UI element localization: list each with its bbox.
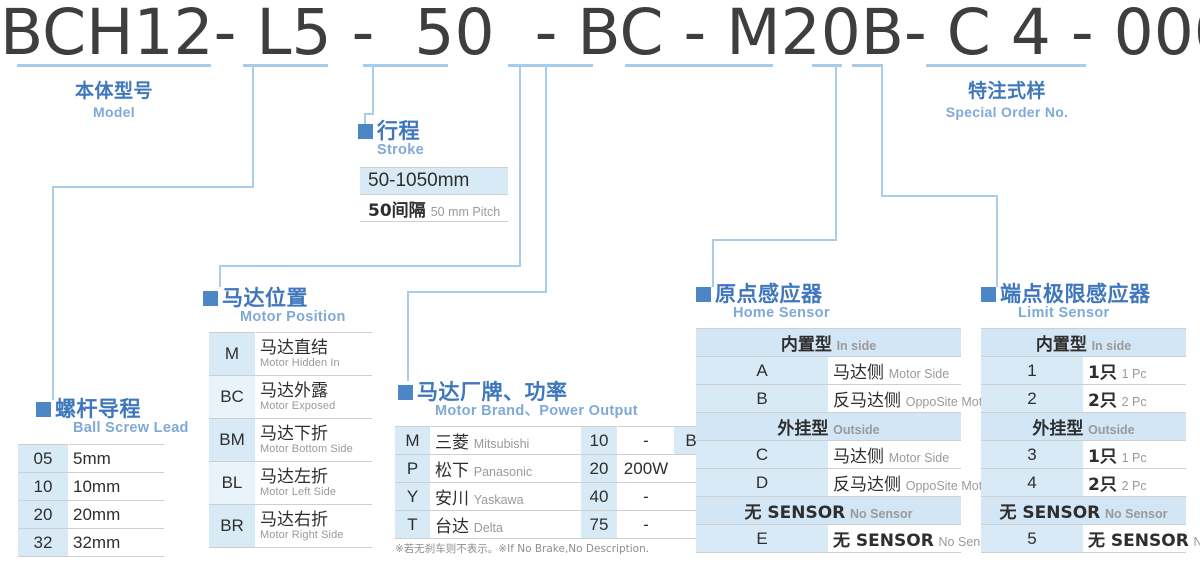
table-row[interactable]: 1 1只 1 Pc	[981, 357, 1186, 385]
mp-desc-en: Motor Left Side	[260, 487, 368, 498]
section-ls-title-en: Limit Sensor	[1018, 306, 1151, 321]
mp-desc-cn: 马达外露	[260, 383, 368, 400]
stroke-pitch-cell: 50间隔 50 mm Pitch	[360, 195, 508, 222]
ls-group-header: 外挂型 Outside	[981, 413, 1186, 441]
ls-desc: 2只 2 Pc	[1084, 385, 1187, 413]
ls-code: 5	[981, 525, 1084, 553]
table-row[interactable]: 20 20mm	[18, 501, 164, 529]
section-stroke-header: 行程 Stroke	[358, 120, 508, 158]
mp-desc: 马达直结 Motor Hidden In	[256, 333, 373, 376]
label-special-order-cn: 特注式样	[922, 76, 1092, 103]
hs-code: A	[696, 357, 829, 385]
label-model: 本体型号 Model	[24, 76, 204, 120]
ls-desc: 1只 1 Pc	[1084, 357, 1187, 385]
section-ball-screw-lead: 螺杆导程 Ball Screw Lead 05 5mm 10 10mm 20 2…	[36, 398, 189, 557]
section-hs-title-cn: 原点感应器	[715, 283, 830, 305]
motor-position-table: M 马达直结 Motor Hidden In BC 马达外露 Motor Exp…	[209, 332, 372, 548]
section-lead-title-cn: 螺杆导程	[55, 398, 189, 420]
table-row[interactable]: BR 马达右折 Motor Right Side	[209, 505, 372, 548]
section-mb-title-cn: 马达厂牌、功率	[417, 381, 638, 403]
underline-special-order	[926, 64, 1086, 67]
ls-group-header: 内置型 In side	[981, 329, 1186, 357]
hs-desc: 反马达侧 OppoSite Motor Side	[829, 385, 962, 413]
stroke-pitch-en: 50 mm Pitch	[431, 205, 500, 219]
ls-group-header-en: In side	[1092, 339, 1132, 353]
mb-code: P	[395, 455, 431, 483]
leader-lead-v2	[52, 186, 54, 400]
section-limit-sensor: 端点极限感应器 Limit Sensor 内置型 In side 1 1只 1 …	[981, 283, 1186, 553]
table-row[interactable]: 50间隔 50 mm Pitch	[360, 195, 508, 222]
leader-ls-v1	[881, 64, 883, 197]
hs-group-header-en: Outside	[833, 423, 880, 437]
ls-desc: 2只 2 Pc	[1084, 469, 1187, 497]
hs-desc: 马达侧 Motor Side	[829, 441, 962, 469]
ls-desc: 1只 1 Pc	[1084, 441, 1187, 469]
table-row[interactable]: BL 马达左折 Motor Left Side	[209, 462, 372, 505]
ls-group-header-cn: 无 SENSOR	[999, 503, 1100, 523]
hs-group-header-en: In side	[837, 339, 877, 353]
label-model-cn: 本体型号	[24, 76, 204, 103]
underline-model	[17, 64, 211, 67]
table-row[interactable]: 3 1只 1 Pc	[981, 441, 1186, 469]
ls-desc-en: 2 Pc	[1122, 395, 1147, 409]
section-lead-header: 螺杆导程 Ball Screw Lead	[36, 398, 189, 436]
leader-stroke-v1	[372, 64, 374, 114]
stroke-pitch-cn: 50间隔	[368, 201, 426, 221]
hs-desc-cn: 无 SENSOR	[833, 531, 934, 551]
ls-desc-en: 1 Pc	[1122, 367, 1147, 381]
section-stroke: 行程 Stroke 50-1050mm 50间隔 50 mm Pitch	[358, 120, 508, 222]
mp-desc: 马达右折 Motor Right Side	[256, 505, 373, 548]
mp-desc: 马达下折 Motor Bottom Side	[256, 419, 373, 462]
leader-mp-v2	[219, 265, 221, 287]
mp-code: BL	[209, 462, 256, 505]
mb-power: 200W	[618, 455, 675, 483]
lead-desc: 32mm	[69, 529, 165, 557]
label-special-order: 特注式样 Special Order No.	[922, 76, 1092, 120]
mb-code: T	[395, 511, 431, 539]
mb-power: -	[618, 511, 675, 539]
ls-group-header-cn: 内置型	[1036, 335, 1087, 355]
ball-screw-lead-table: 05 5mm 10 10mm 20 20mm 32 32mm	[18, 444, 164, 557]
section-mb-title-en: Motor Brand、Power Output	[435, 404, 638, 419]
lead-code: 05	[18, 445, 69, 473]
hs-desc: 无 SENSOR No Sensor	[829, 525, 962, 553]
section-stroke-title-en: Stroke	[377, 143, 424, 158]
product-code-diagram: BCH12- L5 - 50 - BC - M20B- C 4 - 0001 本…	[0, 0, 1200, 575]
mb-brand-en: Mitsubishi	[474, 437, 530, 451]
table-row[interactable]: Y 安川 Yaskawa 40 -	[395, 483, 708, 511]
table-row-group-header: 外挂型 Outside	[696, 413, 961, 441]
square-marker-icon	[203, 291, 218, 306]
stroke-range-cell: 50-1050mm	[360, 168, 508, 195]
hs-desc: 反马达侧 OppoSite Motor Side	[829, 469, 962, 497]
mb-power-code: 20	[581, 455, 618, 483]
hs-desc-cn: 反马达侧	[833, 475, 901, 495]
lead-desc: 5mm	[69, 445, 165, 473]
ls-desc-cn: 1只	[1088, 447, 1117, 467]
mb-brand-cn: 松下	[435, 461, 469, 481]
lead-code: 10	[18, 473, 69, 501]
hs-group-header-en: No Sensor	[850, 507, 913, 521]
section-hs-header: 原点感应器 Home Sensor	[696, 283, 961, 321]
section-stroke-title-cn: 行程	[377, 120, 424, 142]
leader-mp-v1	[519, 64, 521, 267]
table-row[interactable]: P 松下 Panasonic 20 200W	[395, 455, 708, 483]
mb-brand-en: Yaskawa	[474, 493, 524, 507]
table-row[interactable]: 4 2只 2 Pc	[981, 469, 1186, 497]
lead-desc: 10mm	[69, 473, 165, 501]
mb-power-code: 75	[581, 511, 618, 539]
section-motor-brand: 马达厂牌、功率 Motor Brand、Power Output M 三菱 Mi…	[398, 381, 708, 556]
section-ls-header: 端点极限感应器 Limit Sensor	[981, 283, 1186, 321]
limit-sensor-table: 内置型 In side 1 1只 1 Pc 2 2只 2 Pc	[981, 328, 1186, 553]
hs-group-header-cn: 无 SENSOR	[744, 503, 845, 523]
mb-brand: 三菱 Mitsubishi	[431, 427, 582, 455]
mb-code: M	[395, 427, 431, 455]
mp-desc: 马达左折 Motor Left Side	[256, 462, 373, 505]
home-sensor-table: 内置型 In side A 马达侧 Motor Side B 反马达侧 Oppo…	[696, 328, 961, 553]
ls-desc: 无 SENSOR No Sensor	[1084, 525, 1187, 553]
hs-group-header-cn: 外挂型	[777, 419, 828, 439]
mp-desc: 马达外露 Motor Exposed	[256, 376, 373, 419]
underline-lead	[243, 64, 328, 67]
section-ls-title-cn: 端点极限感应器	[1000, 283, 1151, 305]
leader-mb-h1	[407, 291, 547, 293]
leader-lead-v1	[252, 64, 254, 188]
motor-brand-table: M 三菱 Mitsubishi 10 - B P 松下 Panasonic 20…	[395, 426, 708, 539]
underline-home-sensor	[812, 64, 842, 67]
underline-motor-brand	[625, 64, 773, 67]
label-model-en: Model	[24, 104, 204, 120]
hs-group-header: 无 SENSOR No Sensor	[696, 497, 961, 525]
hs-code: C	[696, 441, 829, 469]
mp-desc-en: Motor Exposed	[260, 401, 368, 412]
section-motor-position: 马达位置 Motor Position M 马达直结 Motor Hidden …	[203, 287, 372, 548]
table-row-group-header: 内置型 In side	[981, 329, 1186, 357]
mb-brand: 松下 Panasonic	[431, 455, 582, 483]
leader-mp-h1	[219, 265, 521, 267]
mb-power: -	[618, 427, 675, 455]
table-row-group-header: 无 SENSOR No Sensor	[981, 497, 1186, 525]
ls-desc-cn: 2只	[1088, 391, 1117, 411]
hs-desc-cn: 马达侧	[833, 363, 884, 383]
leader-ls-h1	[881, 195, 998, 197]
ls-code: 3	[981, 441, 1084, 469]
section-hs-title-en: Home Sensor	[733, 306, 830, 321]
table-row[interactable]: B 反马达侧 OppoSite Motor Side	[696, 385, 961, 413]
mb-brand: 台达 Delta	[431, 511, 582, 539]
table-row[interactable]: BM 马达下折 Motor Bottom Side	[209, 419, 372, 462]
mb-brand-cn: 三菱	[435, 433, 469, 453]
section-lead-title-en: Ball Screw Lead	[73, 421, 189, 436]
square-marker-icon	[36, 402, 51, 417]
ls-code: 1	[981, 357, 1084, 385]
ls-desc-en: 2 Pc	[1122, 479, 1147, 493]
table-row[interactable]: 5 无 SENSOR No Sensor	[981, 525, 1186, 553]
leader-hs-h1	[712, 239, 837, 241]
mb-brand-en: Delta	[474, 521, 503, 535]
hs-desc-en: Motor Side	[889, 451, 949, 465]
lead-desc: 20mm	[69, 501, 165, 529]
section-home-sensor: 原点感应器 Home Sensor 内置型 In side A 马达侧 Moto…	[696, 283, 961, 553]
section-mp-header: 马达位置 Motor Position	[203, 287, 372, 325]
table-row[interactable]: BC 马达外露 Motor Exposed	[209, 376, 372, 419]
hs-group-header: 内置型 In side	[696, 329, 961, 357]
hs-code: E	[696, 525, 829, 553]
section-mb-header: 马达厂牌、功率 Motor Brand、Power Output	[398, 381, 708, 419]
stroke-table: 50-1050mm 50间隔 50 mm Pitch	[360, 167, 508, 222]
mp-desc-cn: 马达右折	[260, 512, 368, 529]
ls-group-header-en: Outside	[1088, 423, 1135, 437]
mp-code: BC	[209, 376, 256, 419]
leader-hs-v1	[835, 64, 837, 241]
table-row-group-header: 内置型 In side	[696, 329, 961, 357]
underline-stroke	[363, 64, 448, 67]
mb-code: Y	[395, 483, 431, 511]
table-row[interactable]: 50-1050mm	[360, 168, 508, 195]
mb-brand-cn: 安川	[435, 489, 469, 509]
leader-mb-v1	[545, 64, 547, 292]
mb-brand-en: Panasonic	[474, 465, 532, 479]
mp-desc-cn: 马达左折	[260, 469, 368, 486]
table-row[interactable]: 05 5mm	[18, 445, 164, 473]
hs-desc-cn: 马达侧	[833, 447, 884, 467]
lead-code: 20	[18, 501, 69, 529]
lead-code: 32	[18, 529, 69, 557]
hs-group-header: 外挂型 Outside	[696, 413, 961, 441]
leader-mb-v2	[407, 291, 409, 381]
table-row[interactable]: 32 32mm	[18, 529, 164, 557]
mb-power-code: 10	[581, 427, 618, 455]
table-row[interactable]: T 台达 Delta 75 -	[395, 511, 708, 539]
hs-group-header-cn: 内置型	[781, 335, 832, 355]
hs-code: D	[696, 469, 829, 497]
table-row[interactable]: 2 2只 2 Pc	[981, 385, 1186, 413]
square-marker-icon	[981, 287, 996, 302]
table-row[interactable]: C 马达侧 Motor Side	[696, 441, 961, 469]
product-code-title: BCH12- L5 - 50 - BC - M20B- C 4 - 0001	[0, 2, 1200, 64]
leader-lead-h1	[52, 186, 254, 188]
ls-desc-en: No Sensor	[1194, 535, 1200, 549]
ls-group-header-en: No Sensor	[1105, 507, 1168, 521]
square-marker-icon	[696, 287, 711, 302]
label-special-order-en: Special Order No.	[922, 104, 1092, 120]
ls-desc-cn: 无 SENSOR	[1088, 531, 1189, 551]
motor-brand-footnote: ※若无刹车则不表示。※If No Brake,No Description.	[395, 541, 708, 556]
mp-code: BR	[209, 505, 256, 548]
table-row[interactable]: D 反马达侧 OppoSite Motor Side	[696, 469, 961, 497]
mb-brand: 安川 Yaskawa	[431, 483, 582, 511]
square-marker-icon	[358, 124, 373, 139]
hs-desc-en: Motor Side	[889, 367, 949, 381]
ls-code: 2	[981, 385, 1084, 413]
underline-limit-sensor	[852, 64, 882, 67]
section-mp-title-en: Motor Position	[240, 310, 346, 325]
table-row[interactable]: M 马达直结 Motor Hidden In	[209, 333, 372, 376]
mb-brand-cn: 台达	[435, 517, 469, 537]
ls-desc-cn: 2只	[1088, 475, 1117, 495]
leader-hs-v2	[712, 239, 714, 287]
mb-power-code: 40	[581, 483, 618, 511]
hs-code: B	[696, 385, 829, 413]
table-row[interactable]: A 马达侧 Motor Side	[696, 357, 961, 385]
leader-ls-v2	[996, 195, 998, 287]
mp-code: M	[209, 333, 256, 376]
hs-desc-cn: 反马达侧	[833, 391, 901, 411]
mb-power: -	[618, 483, 675, 511]
square-marker-icon	[398, 385, 413, 400]
section-mp-title-cn: 马达位置	[222, 287, 346, 309]
ls-desc-en: 1 Pc	[1122, 451, 1147, 465]
hs-desc: 马达侧 Motor Side	[829, 357, 962, 385]
table-row[interactable]: E 无 SENSOR No Sensor	[696, 525, 961, 553]
table-row[interactable]: 10 10mm	[18, 473, 164, 501]
ls-desc-cn: 1只	[1088, 363, 1117, 383]
ls-group-header: 无 SENSOR No Sensor	[981, 497, 1186, 525]
table-row-group-header: 无 SENSOR No Sensor	[696, 497, 961, 525]
table-row-group-header: 外挂型 Outside	[981, 413, 1186, 441]
table-row[interactable]: M 三菱 Mitsubishi 10 - B	[395, 427, 708, 455]
mp-code: BM	[209, 419, 256, 462]
ls-group-header-cn: 外挂型	[1032, 419, 1083, 439]
mp-desc-en: Motor Hidden In	[260, 358, 368, 369]
ls-code: 4	[981, 469, 1084, 497]
mp-desc-en: Motor Right Side	[260, 530, 368, 541]
mp-desc-cn: 马达下折	[260, 426, 368, 443]
mp-desc-cn: 马达直结	[260, 340, 368, 357]
mp-desc-en: Motor Bottom Side	[260, 444, 368, 455]
